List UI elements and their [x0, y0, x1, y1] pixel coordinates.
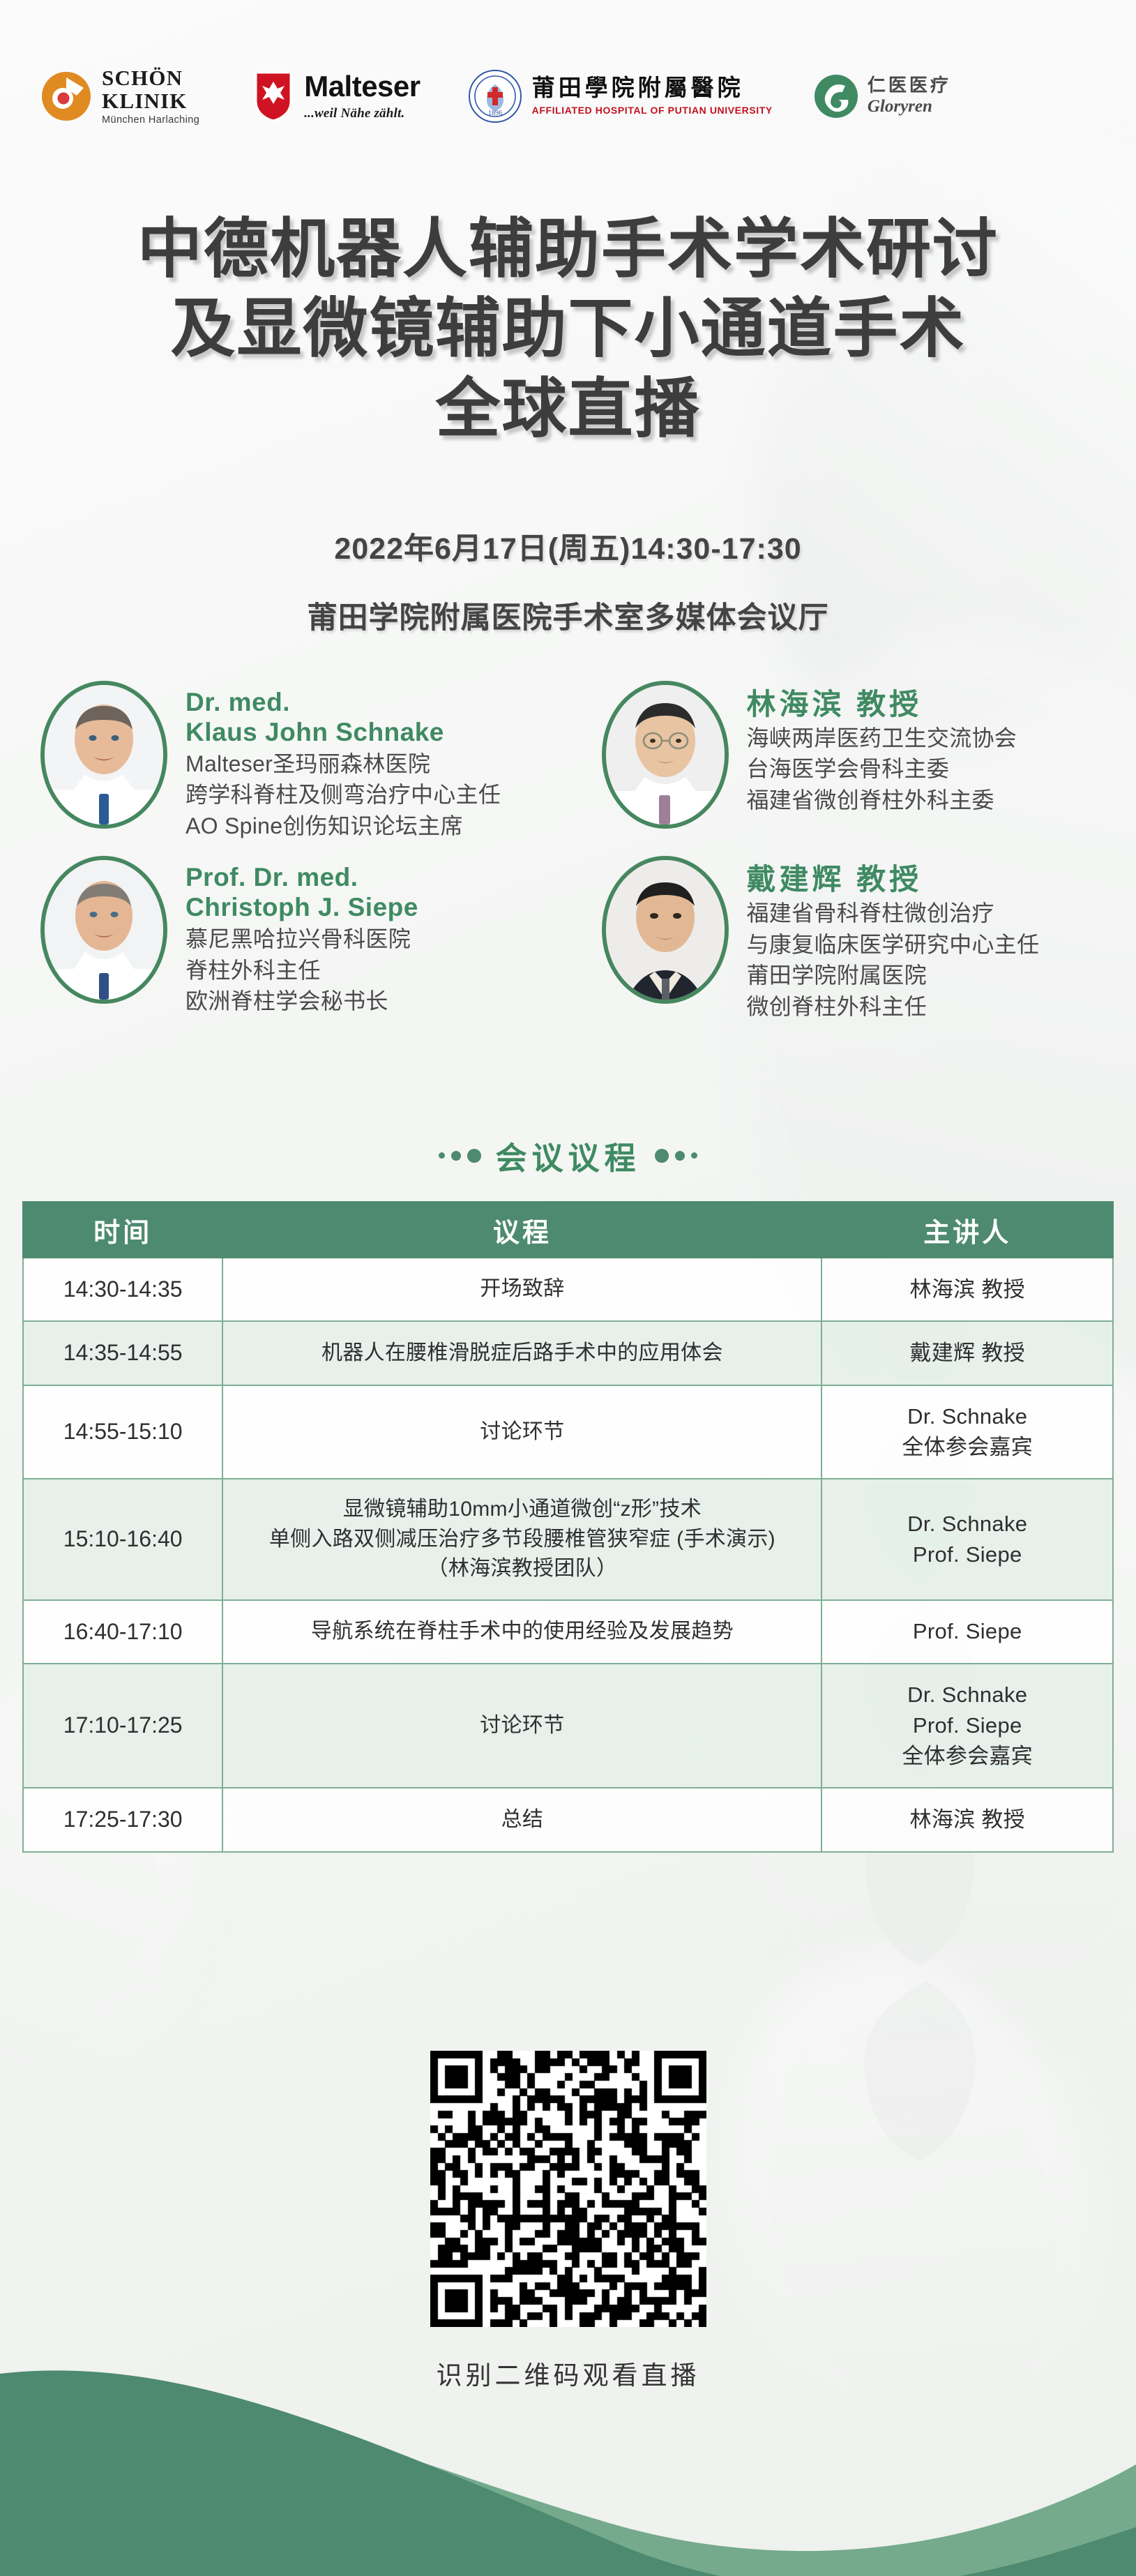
gloryren-name-cn: 仁医医疗 — [868, 76, 951, 95]
avatar — [602, 856, 729, 1004]
avatar — [602, 681, 729, 829]
agenda-title: 会议议程 — [495, 1133, 640, 1178]
malteser-wordmark: Malteser — [304, 72, 420, 101]
cell-time: 14:55-15:10 — [23, 1385, 222, 1479]
table-row: 17:25-17:30 总结 林海滨 教授 — [23, 1788, 1113, 1851]
table-row: 14:35-14:55 机器人在腰椎滑脱症后路手术中的应用体会 戴建辉 教授 — [23, 1321, 1113, 1385]
gloryren-icon — [813, 73, 859, 119]
cell-time: 17:25-17:30 — [23, 1788, 222, 1851]
column-header-speaker: 主讲人 — [821, 1202, 1113, 1258]
speaker-bio-line: 海峡两岸医药卫生交流协会 — [747, 723, 1017, 753]
speaker-bio-line: 跨学科脊柱及侧弯治疗中心主任 — [185, 780, 501, 810]
speaker-bio-line: 福建省微创脊柱外科主委 — [747, 785, 1017, 815]
speaker-card: Prof. Dr. med. Christoph J. Siepe 慕尼黑哈拉兴… — [0, 853, 568, 1021]
logo-malteser: Malteser ...weil Nähe zählt. — [254, 70, 420, 122]
cell-speaker: Dr. Schnake全体参会嘉宾 — [821, 1385, 1113, 1479]
cell-time: 17:10-17:25 — [23, 1664, 222, 1788]
cell-topic: 讨论环节 — [222, 1385, 821, 1479]
speaker-bio-line: 脊柱外科主任 — [185, 956, 418, 986]
table-row: 15:10-16:40 显微镜辅助10mm小通道微创“z形”技术单侧入路双侧减压… — [23, 1479, 1113, 1600]
table-row: 16:40-17:10 导航系统在脊柱手术中的使用经验及发展趋势 Prof. S… — [23, 1600, 1113, 1664]
speaker-card: 戴建辉 教授 福建省骨科脊柱微创治疗 与康复临床医学研究中心主任 莆田学院附属医… — [568, 853, 1136, 1021]
speaker-name-line1: Prof. Dr. med. — [185, 863, 418, 893]
qr-caption: 识别二维码观看直播 — [0, 2354, 1136, 2392]
speaker-name-line1: 戴建辉 教授 — [747, 863, 1040, 897]
livestream-qr-block: 识别二维码观看直播 — [0, 2051, 1136, 2392]
speaker-bio-line: 欧洲脊柱学会秘书长 — [185, 986, 418, 1016]
decorative-dots-right — [655, 1149, 697, 1163]
gloryren-name-en: Gloryren — [868, 97, 951, 116]
putian-seal-icon: 1896 — [468, 69, 522, 123]
malteser-shield-icon — [254, 70, 293, 122]
speaker-bio-line: 与康复临床医学研究中心主任 — [747, 930, 1040, 960]
cell-topic: 导航系统在脊柱手术中的使用经验及发展趋势 — [222, 1600, 821, 1664]
speaker-name-line1: Dr. med. — [185, 688, 501, 718]
speaker-bio-line: Malteser圣玛丽森林医院 — [185, 749, 501, 779]
poster-title: 中德机器人辅助手术学术研讨 及显微镜辅助下小通道手术 全球直播 — [0, 209, 1136, 449]
speaker-bio-line: 台海医学会骨科主委 — [747, 754, 1017, 784]
cell-speaker: 林海滨 教授 — [821, 1788, 1113, 1851]
title-line-3: 全球直播 — [0, 369, 1136, 449]
cell-time: 14:35-14:55 — [23, 1321, 222, 1385]
logo-gloryren: 仁医医疗 Gloryren — [813, 73, 951, 119]
event-venue: 莆田学院附属医院手术室多媒体会议厅 — [0, 594, 1136, 637]
avatar — [40, 681, 167, 829]
avatar — [40, 856, 167, 1004]
speaker-name-line2: Christoph J. Siepe — [185, 893, 418, 923]
cell-speaker: Prof. Siepe — [821, 1600, 1113, 1664]
schon-klinik-icon — [40, 70, 92, 122]
cell-topic: 显微镜辅助10mm小通道微创“z形”技术单侧入路双侧减压治疗多节段腰椎管狭窄症 … — [222, 1479, 821, 1600]
putian-hospital-name-cn: 莆田學院附屬醫院 — [532, 77, 773, 101]
cell-topic: 开场致辞 — [222, 1258, 821, 1321]
speaker-bio-line: 微创脊柱外科主任 — [747, 992, 1040, 1022]
column-header-time: 时间 — [23, 1202, 222, 1258]
logo-schon-klinik: SCHÖN KLINIK München Harlaching — [40, 67, 199, 126]
speaker-name-line2: Klaus John Schnake — [185, 718, 501, 748]
malteser-tagline: ...weil Nähe zählt. — [304, 106, 420, 121]
schon-klinik-line1: SCHÖN — [102, 67, 199, 89]
title-line-1: 中德机器人辅助手术学术研讨 — [0, 209, 1136, 289]
speaker-bio-line: 莆田学院附属医院 — [747, 961, 1040, 991]
table-row: 14:30-14:35 开场致辞 林海滨 教授 — [23, 1258, 1113, 1321]
cell-speaker: 戴建辉 教授 — [821, 1321, 1113, 1385]
speaker-bio-line: AO Spine创伤知识论坛主席 — [185, 811, 501, 841]
speaker-name-line1: 林海滨 教授 — [747, 688, 1017, 722]
table-row: 14:55-15:10 讨论环节 Dr. Schnake全体参会嘉宾 — [23, 1385, 1113, 1479]
cell-time: 16:40-17:10 — [23, 1600, 222, 1664]
schon-klinik-line3: München Harlaching — [102, 115, 199, 126]
cell-topic: 机器人在腰椎滑脱症后路手术中的应用体会 — [222, 1321, 821, 1385]
putian-hospital-name-en: AFFILIATED HOSPITAL OF PUTIAN UNIVERSITY — [532, 105, 773, 116]
speaker-bio-line: 慕尼黑哈拉兴骨科医院 — [185, 924, 418, 954]
cell-topic: 总结 — [222, 1788, 821, 1851]
agenda-heading: 会议议程 — [0, 1133, 1136, 1178]
cell-time: 14:30-14:35 — [23, 1258, 222, 1321]
title-line-2: 及显微镜辅助下小通道手术 — [0, 289, 1136, 368]
svg-text:1896: 1896 — [488, 110, 502, 117]
speaker-card: 林海滨 教授 海峡两岸医药卫生交流协会 台海医学会骨科主委 福建省微创脊柱外科主… — [568, 678, 1136, 841]
logo-putian-hospital: 1896 莆田學院附屬醫院 AFFILIATED HOSPITAL OF PUT… — [468, 69, 773, 123]
speaker-bio-line: 福建省骨科脊柱微创治疗 — [747, 898, 1040, 928]
speaker-card: Dr. med. Klaus John Schnake Malteser圣玛丽森… — [0, 678, 568, 841]
qr-code[interactable] — [430, 2051, 706, 2327]
column-header-topic: 议程 — [222, 1202, 821, 1258]
sponsor-logo-row: SCHÖN KLINIK München Harlaching Malteser… — [0, 54, 1136, 138]
cell-time: 15:10-16:40 — [23, 1479, 222, 1600]
decorative-dots-left — [439, 1149, 481, 1163]
event-meta: 2022年6月17日(周五)14:30-17:30 莆田学院附属医院手术室多媒体… — [0, 525, 1136, 637]
speaker-grid: Dr. med. Klaus John Schnake Malteser圣玛丽森… — [0, 678, 1136, 1021]
table-row: 17:10-17:25 讨论环节 Dr. SchnakeProf. Siepe全… — [23, 1664, 1113, 1788]
agenda-table-body: 14:30-14:35 开场致辞 林海滨 教授 14:35-14:55 机器人在… — [23, 1258, 1113, 1852]
cell-speaker: 林海滨 教授 — [821, 1258, 1113, 1321]
event-datetime: 2022年6月17日(周五)14:30-17:30 — [0, 525, 1136, 568]
cell-speaker: Dr. SchnakeProf. Siepe — [821, 1479, 1113, 1600]
table-header-row: 时间 议程 主讲人 — [23, 1202, 1113, 1258]
cell-speaker: Dr. SchnakeProf. Siepe全体参会嘉宾 — [821, 1664, 1113, 1788]
agenda-table: 时间 议程 主讲人 14:30-14:35 开场致辞 林海滨 教授 14:35-… — [22, 1201, 1114, 1853]
cell-topic: 讨论环节 — [222, 1664, 821, 1788]
schon-klinik-line2: KLINIK — [102, 90, 199, 112]
